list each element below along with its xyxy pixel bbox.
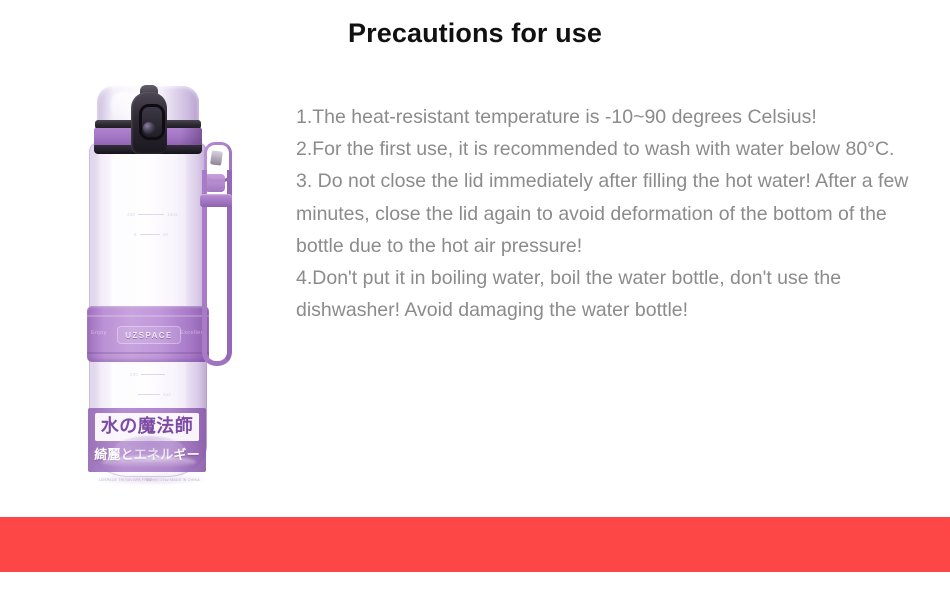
graduation-line: [141, 374, 165, 375]
graduation-line: [138, 214, 164, 215]
carabiner-gate: [210, 150, 223, 165]
precautions-text-block: 1.The heat-resistant temperature is -10~…: [296, 101, 912, 326]
graduation-label-left: 400: [127, 212, 135, 217]
cap-lock-dot: [143, 122, 155, 134]
bottle-fineprint-right: 500ml / 17oz MADE IN CHINA: [146, 478, 200, 483]
graduation-label-right: 14oz: [167, 212, 178, 217]
precaution-item: 3. Do not close the lid immediately afte…: [296, 165, 912, 262]
graduation-line: [140, 234, 160, 235]
graduation-label-right: 4oz: [163, 392, 171, 397]
precaution-item: 1.The heat-resistant temperature is -10~…: [296, 101, 912, 133]
strap-slider: [200, 194, 232, 207]
brand-plate: UZSPACE: [117, 326, 181, 344]
precaution-item: 4.Don't put it in boiling water, boil th…: [296, 262, 912, 326]
bottle-graduation: 200: [130, 372, 168, 376]
cap-lock-button: [131, 92, 167, 154]
grip-ridge: [87, 352, 209, 354]
bottle-bottom-sheen: [102, 456, 196, 468]
bottle-fineprint-left: UZSPACE TRITAN BPA FREE: [99, 478, 152, 483]
bottle-graduation: 8 10: [134, 232, 168, 236]
precaution-item: 2.For the first use, it is recommended t…: [296, 133, 912, 165]
grip-ridge: [87, 315, 209, 317]
brand-name: UZSPACE: [125, 331, 172, 340]
bottle-gloss-right: [177, 152, 186, 452]
label-star-icon: ★: [180, 414, 187, 423]
page-canvas: Precautions for use 400 14oz: [0, 0, 950, 591]
page-title: Precautions for use: [240, 18, 710, 49]
bottle-graduation: 4oz: [135, 392, 171, 396]
graduation-label-left: 200: [130, 372, 138, 377]
bottle-graduation: 400 14oz: [127, 212, 178, 216]
graduation-label-right: 10: [163, 232, 168, 237]
product-image-water-bottle: 400 14oz 8 10 200 4oz Enjoy UZSPACE: [72, 84, 237, 482]
graduation-line: [138, 394, 160, 395]
brand-side-text-left: Enjoy: [91, 330, 107, 336]
bottle-strap-assembly: [196, 142, 240, 372]
graduation-label-left: 8: [134, 232, 137, 237]
footer-red-band: [0, 517, 950, 572]
bottle-gloss-left: [111, 152, 127, 452]
bottle-grip-sleeve: Enjoy UZSPACE Excellent: [87, 306, 209, 362]
